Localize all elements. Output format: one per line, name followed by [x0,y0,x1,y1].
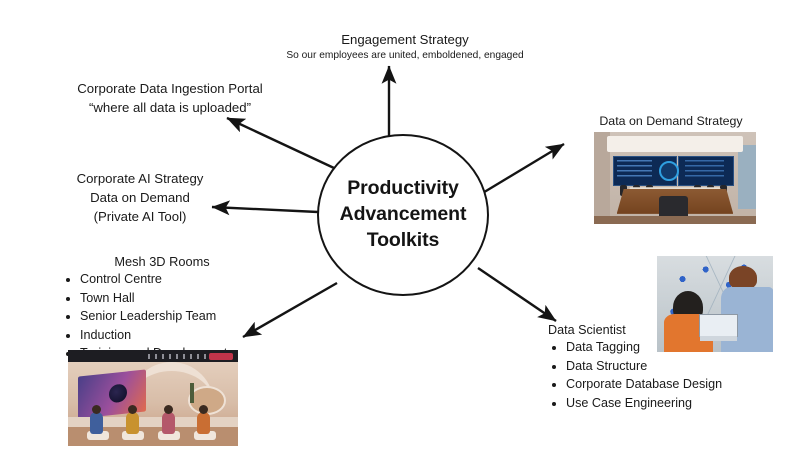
arrow-to-data-on-demand [481,144,564,194]
list-item: Corporate Database Design [566,375,768,394]
mesh-avatar [197,412,210,434]
node-engagement-strategy: Engagement Strategy So our employees are… [280,30,530,63]
mesh-3d-room-image [68,350,238,446]
room-dashboard-bars-left [617,160,653,180]
mesh-avatar [90,412,103,434]
data-on-demand-strategy-title: Data on Demand Strategy [586,113,756,131]
corporate-ai-strategy-title: Corporate AI Strategy Data on Demand (Pr… [60,169,220,226]
person-man-hair [729,266,757,289]
mesh-toolbar-controls [148,354,206,359]
command-centre-room-image [594,132,756,224]
mesh-cactus [190,383,194,403]
arrow-to-ai-strategy [212,207,318,212]
mesh-leave-button [209,353,233,360]
mesh-3d-rooms-list: Control Centre Town Hall Senior Leadersh… [62,270,262,363]
list-item: Induction [80,326,262,345]
node-corporate-ai-strategy: Corporate AI Strategy Data on Demand (Pr… [60,169,220,226]
arrow-to-portal [227,118,334,168]
arrow-to-data-scientist [478,268,556,321]
mesh-avatar [126,412,139,434]
central-hub-label: Productivity Advancement Toolkits [340,176,467,253]
list-item: Senior Leadership Team [80,307,262,326]
engagement-strategy-subtitle: So our employees are united, emboldened,… [280,49,530,63]
mesh-3d-rooms-title: Mesh 3D Rooms [62,254,262,269]
list-item: Data Structure [566,357,768,376]
room-dashboard-bars-right [685,160,724,180]
central-hub: Productivity Advancement Toolkits [317,134,489,296]
room-ceiling-light [607,136,743,153]
diagram-canvas: Productivity Advancement Toolkits Engage… [0,0,800,450]
laptop-icon [699,314,738,337]
mesh-avatar [162,412,175,434]
list-item: Control Centre [80,270,262,289]
list-item: Town Hall [80,289,262,308]
list-item: Use Case Engineering [566,394,768,413]
mesh-toolbar [68,350,238,362]
data-scientists-image [657,256,773,352]
node-data-on-demand-strategy: Data on Demand Strategy [586,113,756,131]
corporate-data-ingestion-portal-title: Corporate Data Ingestion Portal “where a… [55,79,285,117]
node-mesh-3d-rooms: Mesh 3D Rooms Control Centre Town Hall S… [62,254,262,363]
engagement-strategy-title: Engagement Strategy [280,30,530,49]
node-corporate-data-ingestion-portal: Corporate Data Ingestion Portal “where a… [55,79,285,117]
room-floor [594,216,756,224]
